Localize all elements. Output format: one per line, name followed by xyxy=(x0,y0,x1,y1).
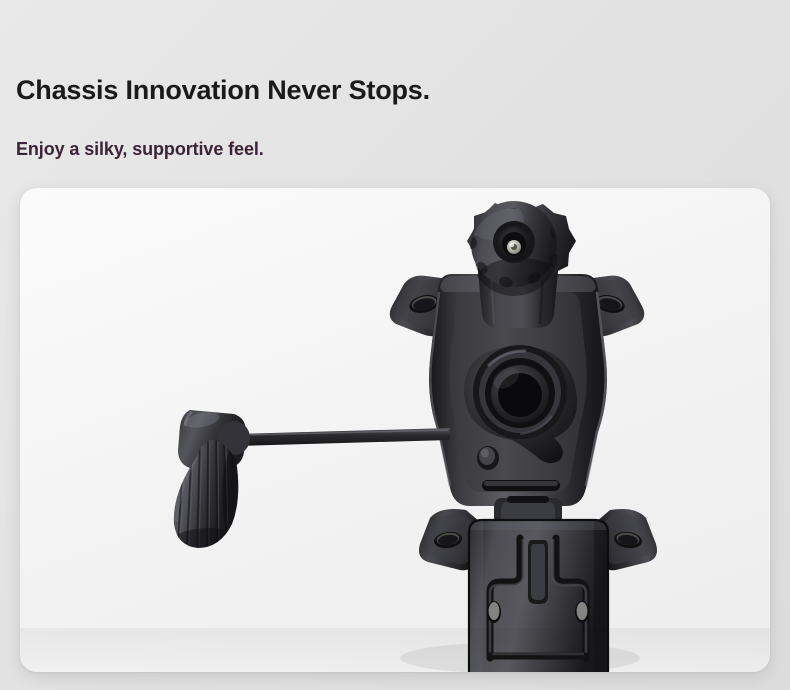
bottom-vignette xyxy=(20,628,770,672)
page-title: Chassis Innovation Never Stops. xyxy=(16,76,430,106)
side-pivot-boss xyxy=(477,446,499,470)
knob-center-screw xyxy=(507,240,521,254)
page-subtitle: Enjoy a silky, supportive feel. xyxy=(16,139,264,161)
page-root: Chassis Innovation Never Stops. Enjoy a … xyxy=(0,0,790,690)
product-image-stage xyxy=(20,188,770,672)
product-image-card xyxy=(20,188,770,672)
tilt-lever-paddle[interactable] xyxy=(170,409,254,560)
chair-tilt-mechanism-illustration xyxy=(20,188,770,672)
stamped-slot xyxy=(482,480,560,491)
tilt-lever-rod xyxy=(238,428,450,446)
